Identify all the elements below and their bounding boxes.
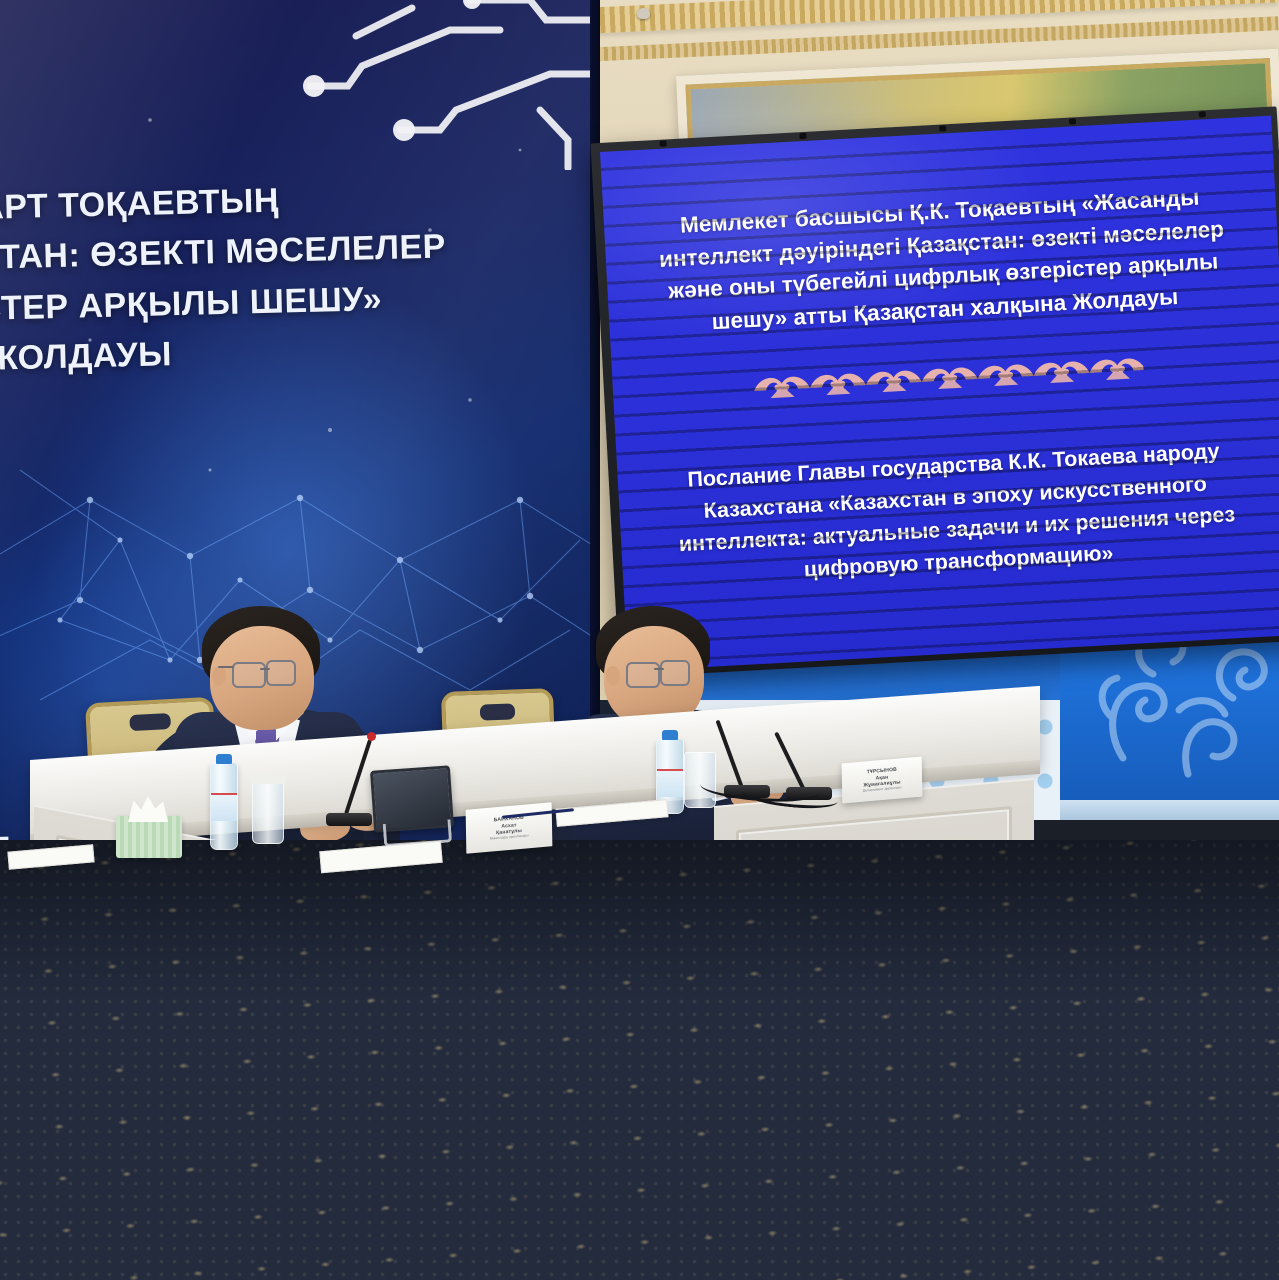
glass-lid [250, 774, 286, 784]
chair-grip [480, 703, 516, 720]
panel-ledge [1035, 800, 1279, 822]
speaker-right-glasses-lens [660, 660, 690, 686]
kazakh-ornament-divider-icon [753, 349, 1144, 400]
speaker-right-glasses-lens [626, 662, 660, 688]
circuit-pattern-icon [300, 0, 596, 170]
tissue-box [116, 816, 182, 858]
bottle-cap [662, 730, 678, 740]
press-conference-scene: ЫМ-ЖОМАРТ ТОҚАЕВТЫҢ ТІ ҚАЗАҚСТАН: ӨЗЕКТІ… [0, 0, 1279, 1280]
screen-content: Мемлекет басшысы Қ.К. Тоқаевтың «Жасанды… [600, 116, 1279, 672]
water-bottle [210, 762, 238, 850]
speaker-left-glasses-bridge [260, 668, 270, 670]
mic-indicator-ring [367, 732, 376, 741]
banner-title: ЫМ-ЖОМАРТ ТОҚАЕВТЫҢ ТІ ҚАЗАҚСТАН: ӨЗЕКТІ… [0, 165, 596, 388]
security-camera-icon [637, 8, 650, 19]
speaker-left-glasses-temple [218, 666, 234, 668]
drinking-glass [252, 780, 284, 844]
speaker-left-glasses-lens [266, 660, 296, 686]
presentation-screen: Мемлекет басшысы Қ.К. Тоқаевтың «Жасанды… [600, 116, 1279, 672]
tablet-device[interactable] [370, 765, 454, 832]
speaker-right-glasses-bridge [654, 668, 664, 670]
mic-neck [344, 739, 372, 814]
gooseneck-microphone [326, 730, 372, 826]
mic-base [326, 813, 372, 826]
nameplate-left: БАЙХАНОВ Асхат Қанатұлы Министрдің орынб… [466, 802, 553, 853]
bottle-label [657, 769, 683, 797]
speaker-left-glasses-lens [232, 662, 266, 688]
carpet-shadow [0, 840, 1279, 1000]
speaker-left-ear [212, 666, 226, 686]
bottle-cap [216, 754, 232, 764]
bottle-label [211, 793, 237, 821]
screen-russian-title: Послание Главы государства К.К. Токаева … [663, 433, 1249, 593]
screen-display: Мемлекет басшысы Қ.К. Тоқаевтың «Жасанды… [600, 116, 1279, 672]
glass-lid [682, 746, 718, 756]
nameplate-right: ТҰРСЫНОВ Ақан Жұмағалиұлы Департамент ди… [842, 757, 923, 804]
screen-kazakh-title: Мемлекет басшысы Қ.К. Тоқаевтың «Жасанды… [649, 180, 1235, 342]
speaker-right-ear [606, 666, 620, 686]
